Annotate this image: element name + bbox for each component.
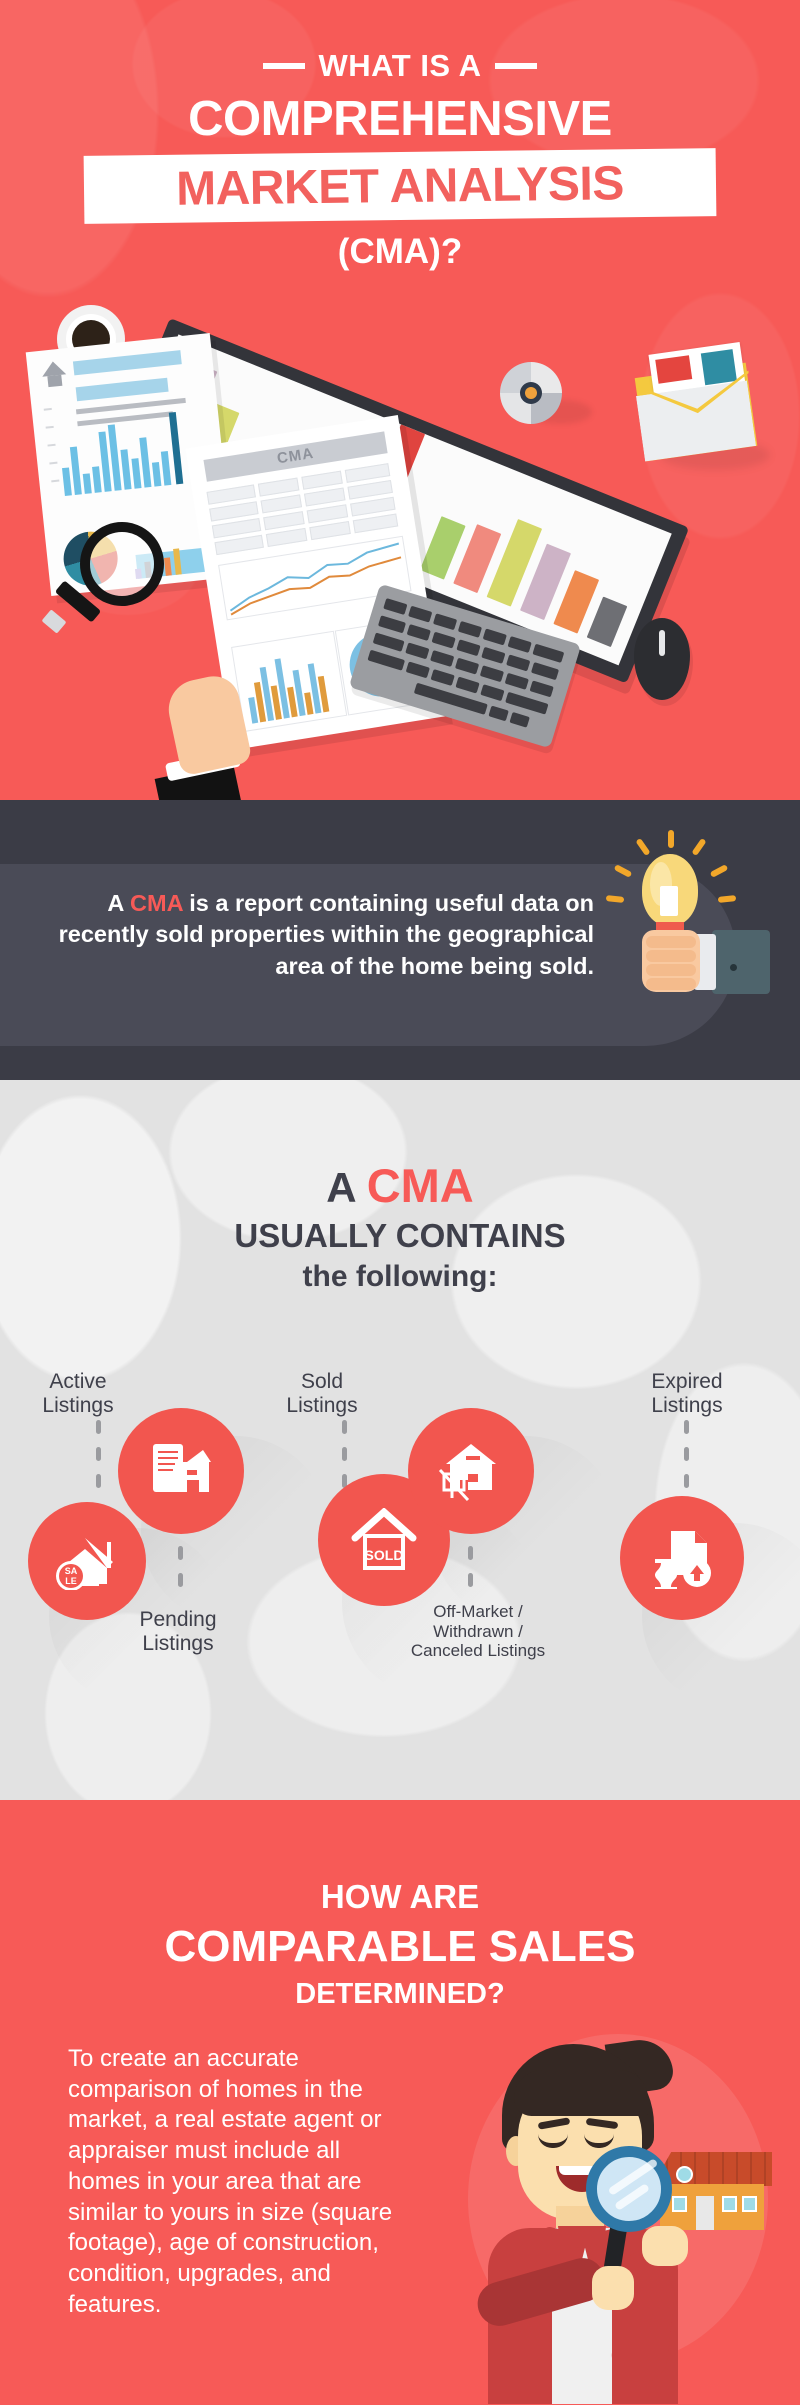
listing-icon-pending[interactable] (118, 1408, 244, 1534)
svg-text:SA: SA (65, 1566, 78, 1576)
listing-label-active: Active Listings (8, 1370, 148, 1419)
hand-holding-report-icon (160, 678, 280, 800)
svg-text:SOLD: SOLD (365, 1547, 404, 1563)
contains-heading-line1: A CMA (0, 1160, 800, 1212)
comparable-heading-line1: HOW ARE (0, 1878, 800, 1916)
listing-label-sold-line2: Listings (252, 1394, 392, 1418)
hero-kicker-text: WHAT IS A (319, 48, 482, 84)
definition-section: A CMA is a report containing useful data… (0, 800, 800, 1080)
definition-text: A CMA is a report containing useful data… (16, 888, 594, 982)
left-dash-decoration (263, 63, 305, 69)
hero-section: WHAT IS A COMPREHENSIVE MARKET ANALYSIS … (0, 0, 800, 800)
hero-title-line2: MARKET ANALYSIS (0, 154, 800, 219)
listing-label-pending: Pending Listings (108, 1608, 248, 1657)
contains-heading-line3: the following: (0, 1260, 800, 1294)
desk-illustration: CMA (0, 290, 800, 800)
magnifying-glass-icon (52, 522, 172, 642)
listing-label-expired: Expired Listings (612, 1370, 762, 1419)
contains-heading: A CMA USUALLY CONTAINS the following: (0, 1160, 800, 1294)
cma-contains-section: A CMA USUALLY CONTAINS the following: Ac… (0, 1080, 800, 1800)
hero-title-banner: MARKET ANALYSIS (0, 152, 800, 224)
listing-label-offmarket: Off-Market / Withdrawn / Canceled Listin… (388, 1602, 568, 1661)
listing-label-expired-line2: Listings (612, 1394, 762, 1418)
definition-before: A (107, 890, 130, 916)
hero-title-block: WHAT IS A COMPREHENSIVE MARKET ANALYSIS … (0, 0, 800, 272)
connector-dots-offmarket (468, 1546, 473, 1587)
listing-label-offmarket-line1: Off-Market / (388, 1602, 568, 1622)
listing-label-pending-line1: Pending (108, 1608, 248, 1632)
hero-title-line1: COMPREHENSIVE (0, 94, 800, 146)
infographic-page: WHAT IS A COMPREHENSIVE MARKET ANALYSIS … (0, 0, 800, 2405)
listing-icon-offmarket[interactable] (408, 1408, 534, 1534)
listing-label-active-line1: Active (8, 1370, 148, 1394)
listing-label-sold-line1: Sold (252, 1370, 392, 1394)
contains-highlight: CMA (367, 1159, 474, 1212)
listing-label-active-line2: Listings (8, 1394, 148, 1418)
lightbulb-in-hand-icon (598, 830, 758, 980)
computer-mouse-icon (634, 618, 690, 700)
comparable-heading-line2: COMPARABLE SALES (0, 1922, 800, 1972)
listing-icon-expired[interactable] (620, 1496, 744, 1620)
comparable-sales-section: HOW ARE COMPARABLE SALES DETERMINED? To … (0, 1800, 800, 2405)
agent-with-magnifier-and-house-icon (440, 2000, 780, 2400)
connector-dots-pending (178, 1546, 183, 1587)
contains-prefix: A (326, 1164, 366, 1211)
connector-dots-sold (342, 1420, 347, 1488)
listing-icon-active[interactable]: SA LE (28, 1502, 146, 1620)
connector-dots-active (96, 1420, 101, 1488)
svg-text:LE: LE (65, 1576, 77, 1586)
comparable-paragraph: To create an accurate comparison of home… (68, 2044, 398, 2320)
listing-label-pending-line2: Listings (108, 1632, 248, 1656)
contains-heading-line2: USUALLY CONTAINS (0, 1217, 800, 1255)
connector-dots-expired (684, 1420, 689, 1488)
listing-label-expired-line1: Expired (612, 1370, 762, 1394)
listing-label-offmarket-line3: Canceled Listings (388, 1641, 568, 1661)
right-dash-decoration (495, 63, 537, 69)
hero-kicker: WHAT IS A (0, 48, 800, 84)
definition-highlight: CMA (130, 890, 183, 916)
listing-label-offmarket-line2: Withdrawn / (388, 1622, 568, 1642)
hero-title-line3: (CMA)? (0, 232, 800, 272)
listing-label-sold: Sold Listings (252, 1370, 392, 1419)
listing-types-diagram: Active Listings SA LE (0, 1390, 800, 1790)
